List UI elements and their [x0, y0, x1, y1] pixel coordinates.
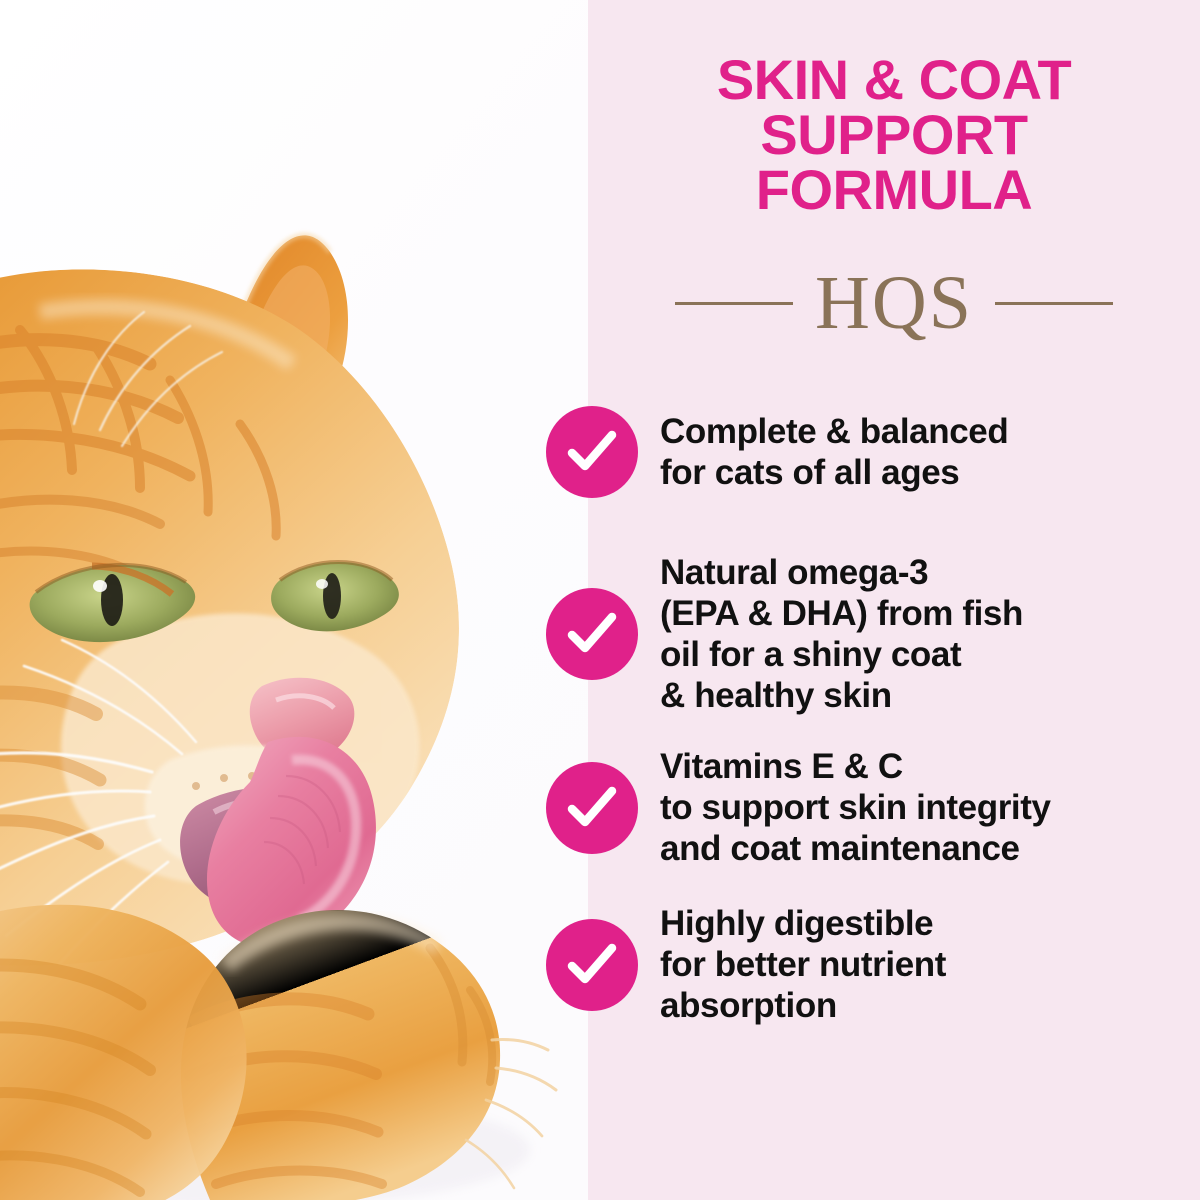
- benefit-label: Highly digestible for better nutrient ab…: [660, 903, 946, 1026]
- check-icon: [546, 919, 638, 1011]
- check-icon: [546, 406, 638, 498]
- title-line-3: FORMULA: [588, 162, 1200, 217]
- benefit-label: Natural omega-3 (EPA & DHA) from fish oi…: [660, 552, 1023, 716]
- benefit-item: Natural omega-3 (EPA & DHA) from fish oi…: [0, 552, 1200, 716]
- benefit-label: Vitamins E & C to support skin integrity…: [660, 746, 1051, 869]
- check-icon: [546, 588, 638, 680]
- benefit-label: Complete & balanced for cats of all ages: [660, 411, 1008, 493]
- benefit-item: Highly digestible for better nutrient ab…: [0, 903, 1200, 1026]
- brand-wordmark: HQS: [815, 262, 973, 344]
- brand-rule-left: [675, 302, 793, 305]
- check-icon: [546, 762, 638, 854]
- benefits-list: Complete & balanced for cats of all ages…: [0, 404, 1200, 1070]
- page-title: SKIN & COAT SUPPORT FORMULA: [588, 52, 1200, 217]
- product-feature-card: SKIN & COAT SUPPORT FORMULA HQS Complete…: [0, 0, 1200, 1200]
- brand-rule-right: [995, 302, 1113, 305]
- benefit-item: Vitamins E & C to support skin integrity…: [0, 746, 1200, 869]
- title-line-2: SUPPORT: [588, 107, 1200, 162]
- brand-lockup: HQS: [588, 262, 1200, 344]
- benefit-item: Complete & balanced for cats of all ages: [0, 404, 1200, 500]
- title-line-1: SKIN & COAT: [588, 52, 1200, 107]
